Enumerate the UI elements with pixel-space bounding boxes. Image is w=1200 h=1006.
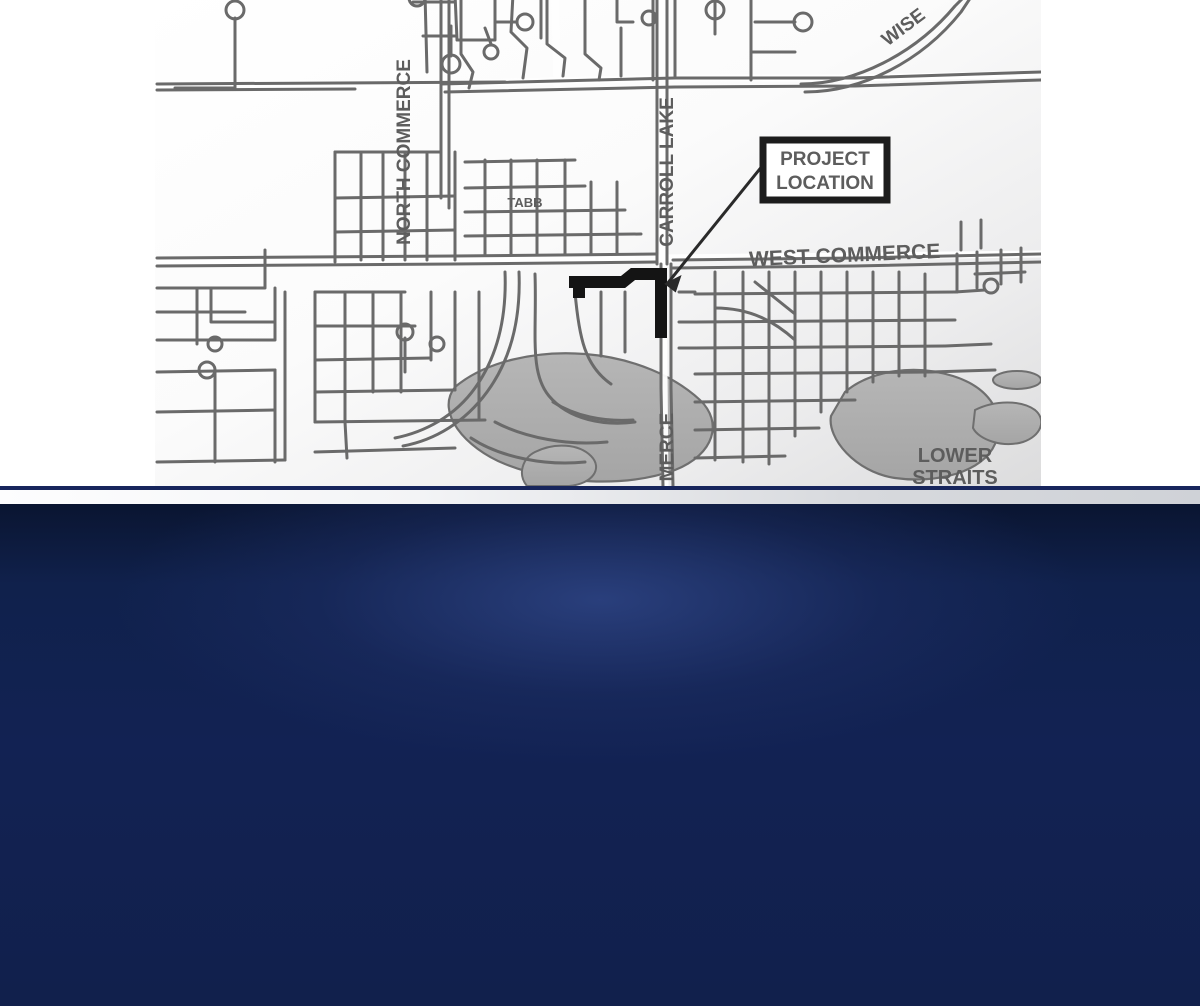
map-label-north-commerce: NORTH COMMERCE xyxy=(394,59,415,245)
poster-root: PROJECT LOCATION NORTH COMMERCE CARROLL … xyxy=(0,0,1200,1006)
map-label-carroll-lake: CARROLL LAKE xyxy=(657,97,678,247)
announcement-banner: LIBRARY PATHWAY CONSTRUCTION New pathway… xyxy=(0,504,1200,1006)
callout-line-1: PROJECT xyxy=(780,149,870,170)
map-area: PROJECT LOCATION NORTH COMMERCE CARROLL … xyxy=(0,0,1200,486)
map-label-commerce-lower: MERCE xyxy=(657,413,678,482)
map-label-lower-straits-1: LOWER xyxy=(918,445,993,467)
divider-band xyxy=(0,490,1200,504)
street-map-image: PROJECT LOCATION NORTH COMMERCE CARROLL … xyxy=(155,0,1041,486)
map-label-lower-straits-2: STRAITS xyxy=(912,467,998,486)
map-label-tabb: TABB xyxy=(507,195,542,210)
callout-line-2: LOCATION xyxy=(776,173,874,194)
project-location-callout: PROJECT LOCATION xyxy=(763,140,887,200)
